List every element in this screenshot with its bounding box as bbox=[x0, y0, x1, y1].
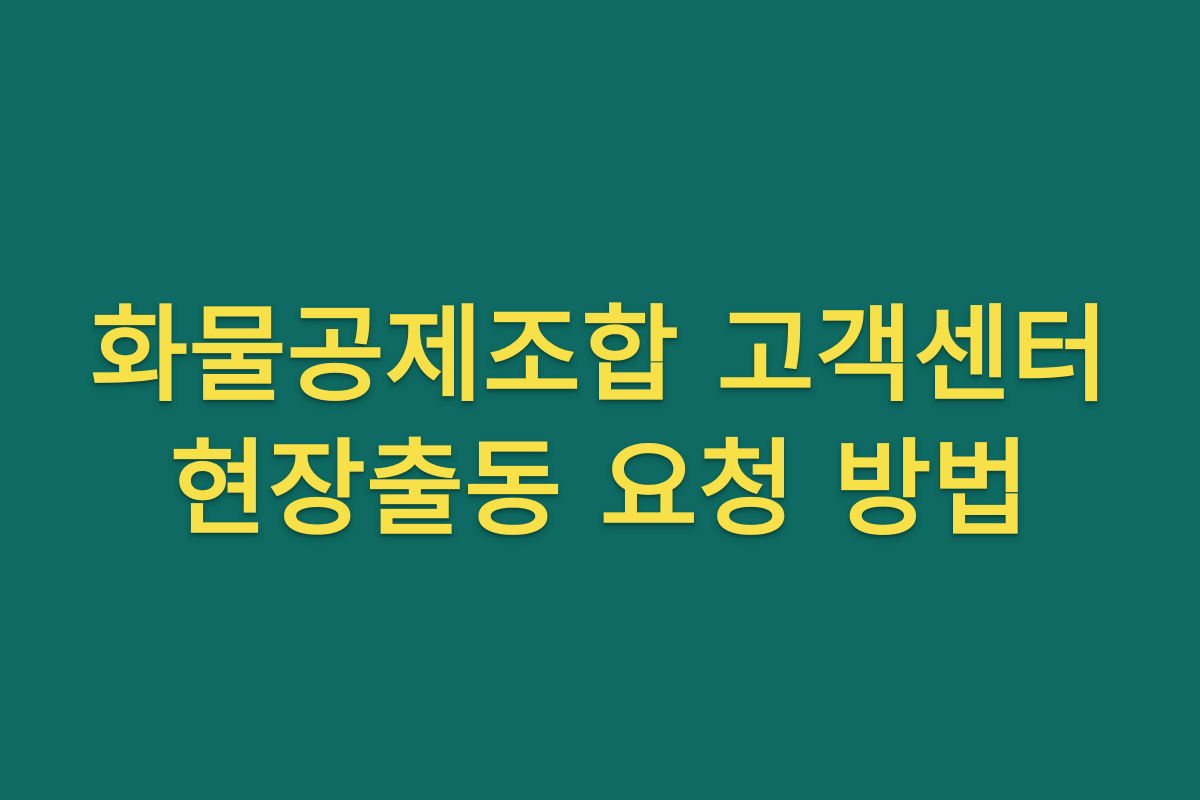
title-line-2: 현장출동 요청 방법 bbox=[0, 437, 1200, 541]
title-line-1: 화물공제조합 고객센터 bbox=[0, 303, 1200, 407]
title-block: 화물공제조합 고객센터 현장출동 요청 방법 bbox=[0, 303, 1200, 541]
thumbnail-card: 화물공제조합 고객센터 현장출동 요청 방법 bbox=[0, 0, 1200, 800]
